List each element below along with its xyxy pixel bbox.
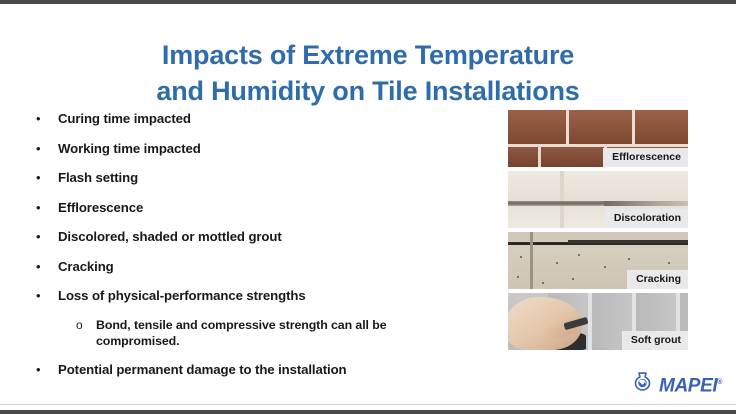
list-item-label: Efflorescence xyxy=(58,199,143,216)
sub-list-item: o Bond, tensile and compressive strength… xyxy=(76,317,486,349)
photo-panel-cracking: Cracking xyxy=(508,232,688,289)
page-title: Impacts of Extreme Temperature and Humid… xyxy=(0,38,736,109)
bullet-marker-icon: • xyxy=(36,140,58,157)
mapei-wordmark-text: MAPEI xyxy=(659,375,717,396)
list-item: • Cracking xyxy=(36,258,486,275)
title-line-1: Impacts of Extreme Temperature xyxy=(0,38,736,74)
photo-caption-badge: Soft grout xyxy=(622,331,688,350)
mapei-bag-swirl-icon xyxy=(631,370,654,398)
photo-panel-discoloration: Discoloration xyxy=(508,171,688,228)
list-item-label: Working time impacted xyxy=(58,140,201,157)
bullet-marker-icon: • xyxy=(36,199,58,216)
mapei-logo: MAPEI® xyxy=(631,370,722,398)
list-item-label: Curing time impacted xyxy=(58,110,191,127)
bullet-marker-icon: • xyxy=(36,258,58,275)
slide-canvas: Impacts of Extreme Temperature and Humid… xyxy=(0,0,736,414)
list-item-label: Cracking xyxy=(58,258,114,275)
list-item: • Discolored, shaded or mottled grout xyxy=(36,228,486,245)
letterbox-bottom-bar xyxy=(0,410,736,414)
footer-divider xyxy=(0,404,736,405)
list-item: • Potential permanent damage to the inst… xyxy=(36,361,486,378)
letterbox-top-bar xyxy=(0,0,736,4)
bullet-marker-icon: • xyxy=(36,169,58,186)
photo-panel-efflorescence: Efflorescence xyxy=(508,110,688,167)
photo-caption-badge: Efflorescence xyxy=(603,148,688,167)
defect-photo-gallery: Efflorescence Discoloration xyxy=(508,110,688,354)
list-item-label: Flash setting xyxy=(58,169,138,186)
list-item-label: Loss of physical-performance strengths xyxy=(58,287,306,304)
title-line-2: and Humidity on Tile Installations xyxy=(0,74,736,110)
list-item-label: Potential permanent damage to the instal… xyxy=(58,361,347,378)
list-item: • Curing time impacted xyxy=(36,110,486,127)
list-item: • Efflorescence xyxy=(36,199,486,216)
mapei-wordmark: MAPEI® xyxy=(659,373,722,395)
list-item: • Working time impacted xyxy=(36,140,486,157)
bullet-marker-icon: • xyxy=(36,361,58,378)
list-item-label: Discolored, shaded or mottled grout xyxy=(58,228,282,245)
bullet-marker-icon: • xyxy=(36,110,58,127)
photo-caption-badge: Cracking xyxy=(627,270,688,289)
sub-bullet-marker-icon: o xyxy=(76,317,96,334)
bullet-marker-icon: • xyxy=(36,287,58,304)
list-item: • Flash setting xyxy=(36,169,486,186)
impacts-bullet-list: • Curing time impacted • Working time im… xyxy=(36,110,486,390)
bullet-marker-icon: • xyxy=(36,228,58,245)
photo-caption-badge: Discoloration xyxy=(605,209,688,228)
photo-panel-soft-grout: Soft grout xyxy=(508,293,688,350)
registered-trademark-icon: ® xyxy=(717,379,722,386)
sub-list-item-label: Bond, tensile and compressive strength c… xyxy=(96,317,396,349)
list-item: • Loss of physical-performance strengths xyxy=(36,287,486,304)
